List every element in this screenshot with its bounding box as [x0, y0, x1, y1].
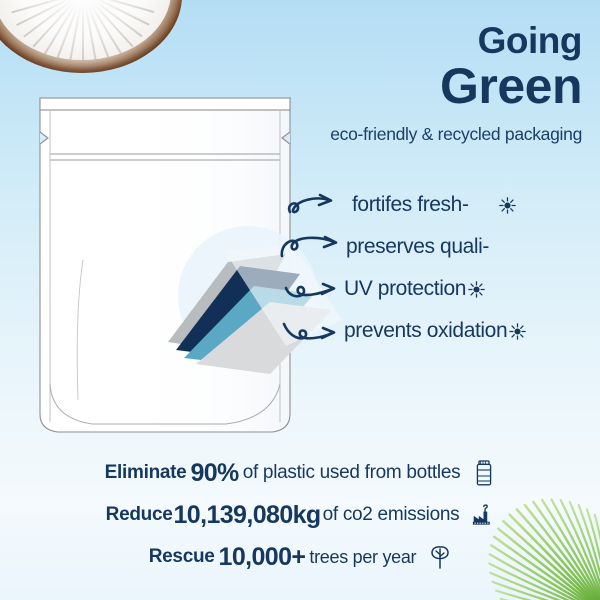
coconut-fiber-ray [82, 0, 84, 60]
stat-value: 90% [186, 459, 242, 488]
subtitle: eco-friendly & recycled packaging [242, 124, 582, 145]
stat-row-trees: Rescue 10,000+ trees per year [0, 536, 600, 578]
title-line-green: Green [242, 60, 582, 113]
factory-icon [472, 502, 494, 528]
stat-value: 10,139,080kg [173, 501, 323, 530]
palm-blade [493, 582, 600, 600]
feature-label: prevents oxidation [344, 319, 507, 343]
stat-value: 10,000+ [215, 543, 310, 572]
stat-row-plastic: Eliminate 90% of plastic used from bottl… [0, 452, 600, 494]
feature-item-uv-protection: UV protection [286, 268, 600, 310]
title-line-going: Going [242, 22, 582, 59]
coconut-image [0, 0, 182, 78]
palm-blade [496, 591, 600, 600]
feature-item-fortifies-fresh: fortifes fresh- [286, 184, 600, 226]
curly-arrow-icon [280, 232, 344, 262]
stat-tail: trees per year [309, 547, 416, 568]
sun-icon [509, 323, 526, 340]
sun-icon [499, 197, 516, 214]
stat-tail: of co2 emissions [323, 504, 460, 526]
feature-list: fortifes fresh- preserves quali- [286, 184, 600, 352]
sun-icon [468, 281, 485, 298]
curly-arrow-icon [282, 316, 342, 346]
stat-row-co2: Reduce 10,139,080kg of co2 emissions [0, 494, 600, 536]
stat-tail: of plastic used from bottles [243, 462, 461, 484]
bottle-icon [473, 460, 495, 486]
feature-label: fortifes fresh- [352, 193, 469, 217]
stat-lead: Rescue [149, 546, 215, 568]
feature-label: UV protection [344, 277, 466, 301]
stat-lead: Reduce [106, 504, 173, 526]
stat-lead: Eliminate [105, 462, 187, 484]
feature-label: preserves quali- [346, 235, 489, 259]
curly-arrow-icon [286, 190, 338, 220]
statistics-block: Eliminate 90% of plastic used from bottl… [0, 452, 600, 578]
feature-item-preserves-quality: preserves quali- [286, 226, 600, 268]
tree-icon [429, 544, 451, 570]
curly-arrow-icon [284, 274, 342, 304]
feature-item-prevents-oxidation: prevents oxidation [286, 310, 600, 352]
heading-block: Going Green eco-friendly & recycled pack… [242, 22, 582, 145]
infographic-canvas: Going Green eco-friendly & recycled pack… [0, 0, 600, 600]
